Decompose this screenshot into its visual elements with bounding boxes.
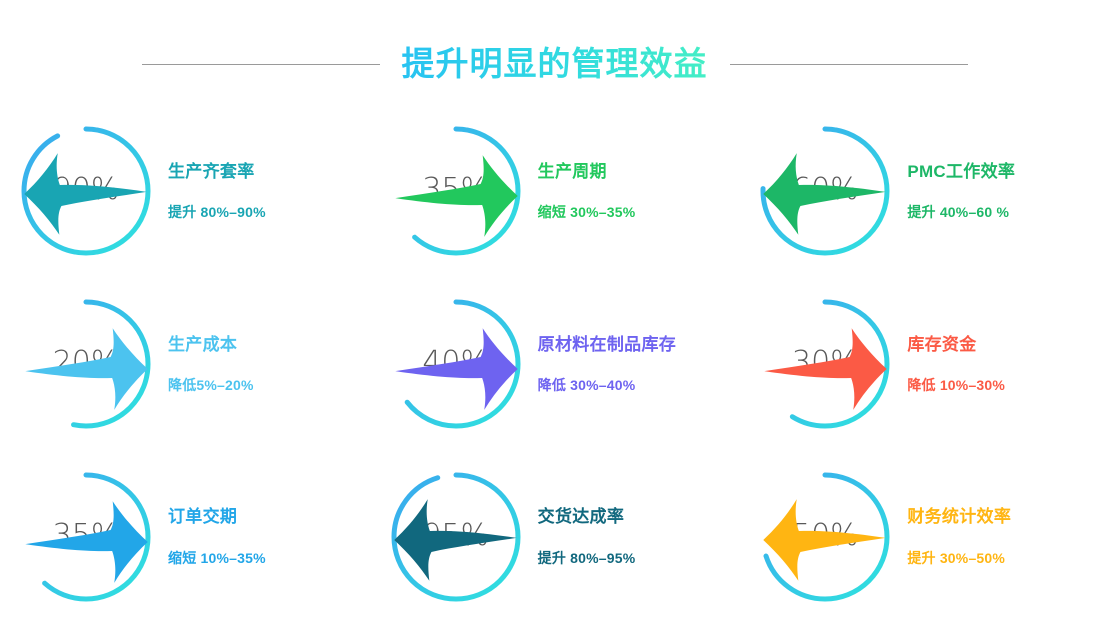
metric-title: 交货达成率 bbox=[538, 506, 625, 527]
metric-cell[interactable]: 20%生产成本降低5%–20% bbox=[0, 278, 370, 451]
metric-cell[interactable]: 60%PMC工作效率提升 40%–60 % bbox=[739, 105, 1109, 278]
metric-labels: PMC工作效率提升 40%–60 % bbox=[907, 161, 1015, 222]
metric-subtitle: 提升 40%–60 % bbox=[907, 204, 1009, 222]
metric-title: 财务统计效率 bbox=[907, 506, 1011, 527]
arrow-down-icon bbox=[388, 300, 524, 436]
arrow-up-icon bbox=[757, 473, 893, 609]
gauge-center: 90% bbox=[18, 123, 154, 259]
metric-subtitle: 提升 80%–95% bbox=[538, 550, 636, 568]
progress-ring: 35% bbox=[388, 123, 524, 259]
metric-labels: 生产齐套率提升 80%–90% bbox=[168, 161, 266, 222]
metric-title: 原材料在制品库存 bbox=[538, 334, 676, 355]
progress-ring: 60% bbox=[757, 123, 893, 259]
progress-ring: 95% bbox=[388, 469, 524, 605]
divider-right bbox=[730, 64, 968, 65]
metric-title: 生产周期 bbox=[538, 161, 607, 182]
progress-ring: 50% bbox=[757, 469, 893, 605]
gauge-center: 40% bbox=[388, 296, 524, 432]
metric-subtitle: 提升 80%–90% bbox=[168, 204, 266, 222]
metric-title: 订单交期 bbox=[168, 506, 237, 527]
arrow-down-icon bbox=[388, 127, 524, 263]
gauge-center: 35% bbox=[18, 469, 154, 605]
metric-cell[interactable]: 35%订单交期缩短 10%–35% bbox=[0, 450, 370, 623]
metric-labels: 库存资金降低 10%–30% bbox=[907, 334, 1005, 395]
metric-title: PMC工作效率 bbox=[907, 161, 1015, 182]
metric-subtitle: 降低 10%–30% bbox=[907, 377, 1005, 395]
metric-labels: 生产周期缩短 30%–35% bbox=[538, 161, 636, 222]
metric-labels: 订单交期缩短 10%–35% bbox=[168, 506, 266, 567]
metric-title: 库存资金 bbox=[907, 334, 976, 355]
arrow-up-icon bbox=[388, 473, 524, 609]
metric-cell[interactable]: 30%库存资金降低 10%–30% bbox=[739, 278, 1109, 451]
gauge-center: 60% bbox=[757, 123, 893, 259]
metric-cell[interactable]: 90%生产齐套率提升 80%–90% bbox=[0, 105, 370, 278]
progress-ring: 20% bbox=[18, 296, 154, 432]
arrow-down-icon bbox=[18, 300, 154, 436]
progress-ring: 30% bbox=[757, 296, 893, 432]
metric-title: 生产齐套率 bbox=[168, 161, 255, 182]
arrow-up-icon bbox=[757, 127, 893, 263]
progress-ring: 40% bbox=[388, 296, 524, 432]
page-title: 提升明显的管理效益 bbox=[398, 42, 712, 86]
metric-cell[interactable]: 95%交货达成率提升 80%–95% bbox=[370, 450, 740, 623]
header: 提升明显的管理效益 bbox=[0, 36, 1109, 92]
metric-labels: 交货达成率提升 80%–95% bbox=[538, 506, 636, 567]
metrics-grid: 90%生产齐套率提升 80%–90%35%生产周期缩短 30%–35%60%PM… bbox=[0, 105, 1109, 623]
metric-subtitle: 提升 30%–50% bbox=[907, 550, 1005, 568]
metric-title: 生产成本 bbox=[168, 334, 237, 355]
metric-subtitle: 缩短 30%–35% bbox=[538, 204, 636, 222]
metric-cell[interactable]: 35%生产周期缩短 30%–35% bbox=[370, 105, 740, 278]
progress-ring: 90% bbox=[18, 123, 154, 259]
gauge-center: 30% bbox=[757, 296, 893, 432]
metric-labels: 财务统计效率提升 30%–50% bbox=[907, 506, 1011, 567]
gauge-center: 35% bbox=[388, 123, 524, 259]
arrow-down-icon bbox=[757, 300, 893, 436]
arrow-up-icon bbox=[18, 127, 154, 263]
metric-cell[interactable]: 50%财务统计效率提升 30%–50% bbox=[739, 450, 1109, 623]
progress-ring: 35% bbox=[18, 469, 154, 605]
slide-root: 提升明显的管理效益 90%生产齐套率提升 80%–90%35%生产周期缩短 30… bbox=[0, 0, 1109, 623]
gauge-center: 50% bbox=[757, 469, 893, 605]
divider-left bbox=[142, 64, 380, 65]
metric-labels: 生产成本降低5%–20% bbox=[168, 334, 254, 395]
metric-cell[interactable]: 40%原材料在制品库存降低 30%–40% bbox=[370, 278, 740, 451]
metric-subtitle: 降低5%–20% bbox=[168, 377, 254, 395]
metric-subtitle: 缩短 10%–35% bbox=[168, 550, 266, 568]
gauge-center: 95% bbox=[388, 469, 524, 605]
metric-subtitle: 降低 30%–40% bbox=[538, 377, 636, 395]
metric-labels: 原材料在制品库存降低 30%–40% bbox=[538, 334, 676, 395]
arrow-down-icon bbox=[18, 473, 154, 609]
gauge-center: 20% bbox=[18, 296, 154, 432]
